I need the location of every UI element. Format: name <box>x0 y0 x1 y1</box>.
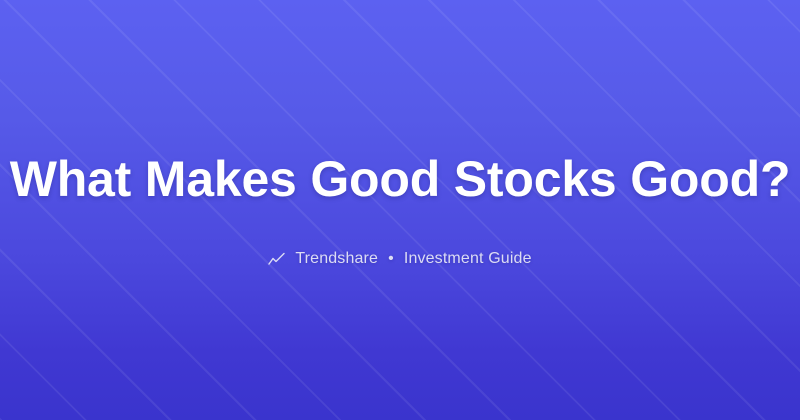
trend-line-up-icon <box>268 252 286 266</box>
hero-subtitle: Trendshare • Investment Guide <box>268 250 531 268</box>
hero-banner: What Makes Good Stocks Good? Trendshare … <box>0 0 800 420</box>
hero-content: What Makes Good Stocks Good? Trendshare … <box>0 0 800 420</box>
subtitle-separator: • <box>387 250 395 268</box>
subtitle-section-label: Investment Guide <box>404 250 532 268</box>
page-title: What Makes Good Stocks Good? <box>4 153 797 206</box>
subtitle-brand-label: Trendshare <box>295 250 378 268</box>
